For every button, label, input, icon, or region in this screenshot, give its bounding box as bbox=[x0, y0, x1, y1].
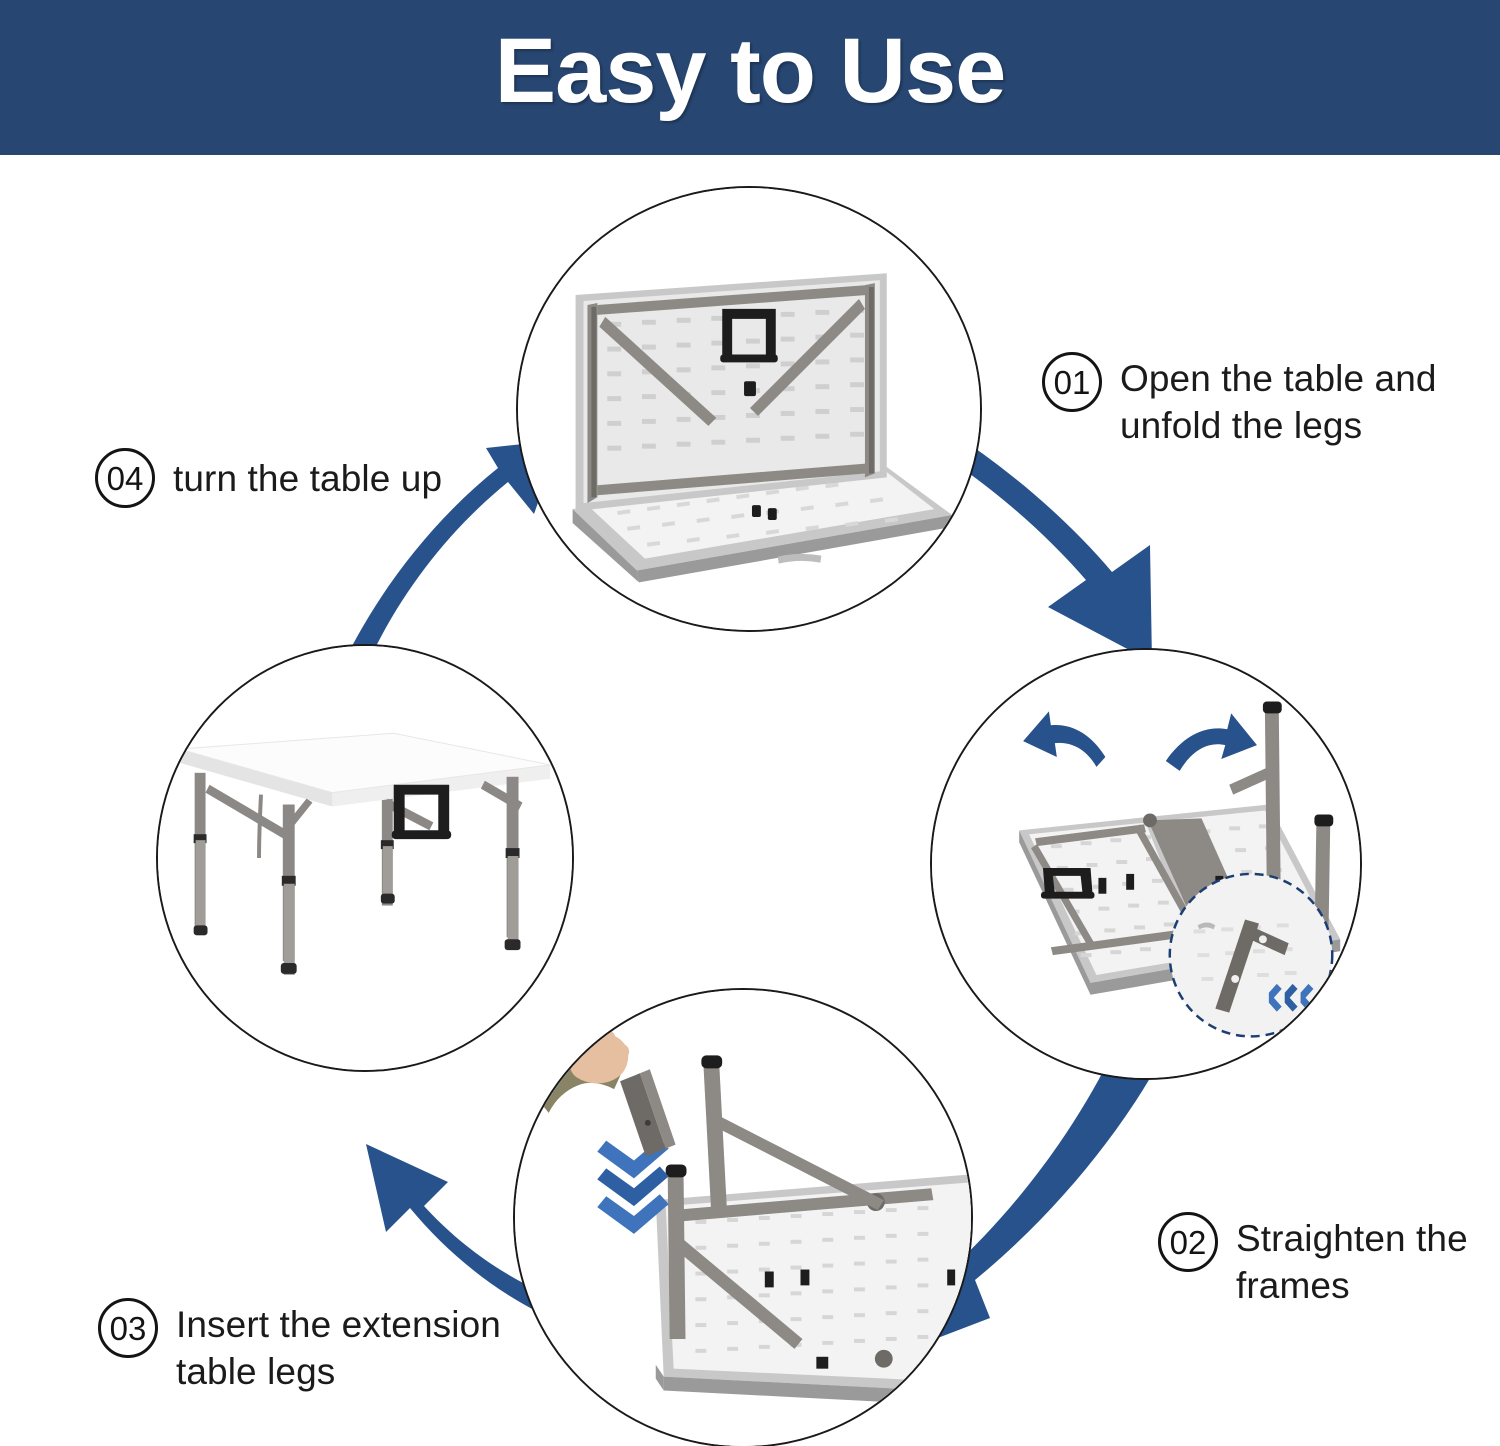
step-text-02: Straighten the frames bbox=[1236, 1212, 1468, 1309]
table-upper-half bbox=[576, 273, 887, 511]
step-caption-01: 01 Open the table and unfold the legs bbox=[1042, 352, 1462, 449]
step-caption-04: 04 turn the table up bbox=[95, 448, 495, 508]
page-title: Easy to Use bbox=[0, 0, 1500, 155]
panel-open-table bbox=[516, 186, 982, 632]
table-leg-back-left bbox=[194, 773, 208, 935]
step-number-badge-03: 03 bbox=[98, 1298, 158, 1358]
panel-open-table-art bbox=[518, 188, 980, 630]
step-text-03: Insert the extension table legs bbox=[176, 1298, 501, 1395]
magnified-hinge-detail bbox=[1170, 874, 1332, 1036]
step-text-01: Open the table and unfold the legs bbox=[1120, 352, 1437, 449]
panel-straighten-frames-art bbox=[932, 650, 1360, 1078]
table-leg-front-right bbox=[505, 777, 521, 950]
panel-finished-table-art bbox=[158, 646, 572, 1070]
step-caption-03: 03 Insert the extension table legs bbox=[98, 1298, 518, 1395]
step-number-badge-04: 04 bbox=[95, 448, 155, 508]
panel-insert-legs-art bbox=[515, 990, 971, 1446]
step-number-badge-01: 01 bbox=[1042, 352, 1102, 412]
table-flat-upside-down bbox=[656, 1174, 971, 1406]
infographic-page: Easy to Use bbox=[0, 0, 1500, 1446]
step-text-04: turn the table up bbox=[173, 448, 442, 503]
panel-finished-table bbox=[156, 644, 574, 1072]
table-leg-front-left bbox=[281, 805, 297, 975]
panel-insert-legs bbox=[513, 988, 973, 1446]
step-number-badge-02: 02 bbox=[1158, 1212, 1218, 1272]
step-caption-02: 02 Straighten the frames bbox=[1158, 1212, 1478, 1309]
panel-straighten-frames bbox=[930, 648, 1362, 1080]
